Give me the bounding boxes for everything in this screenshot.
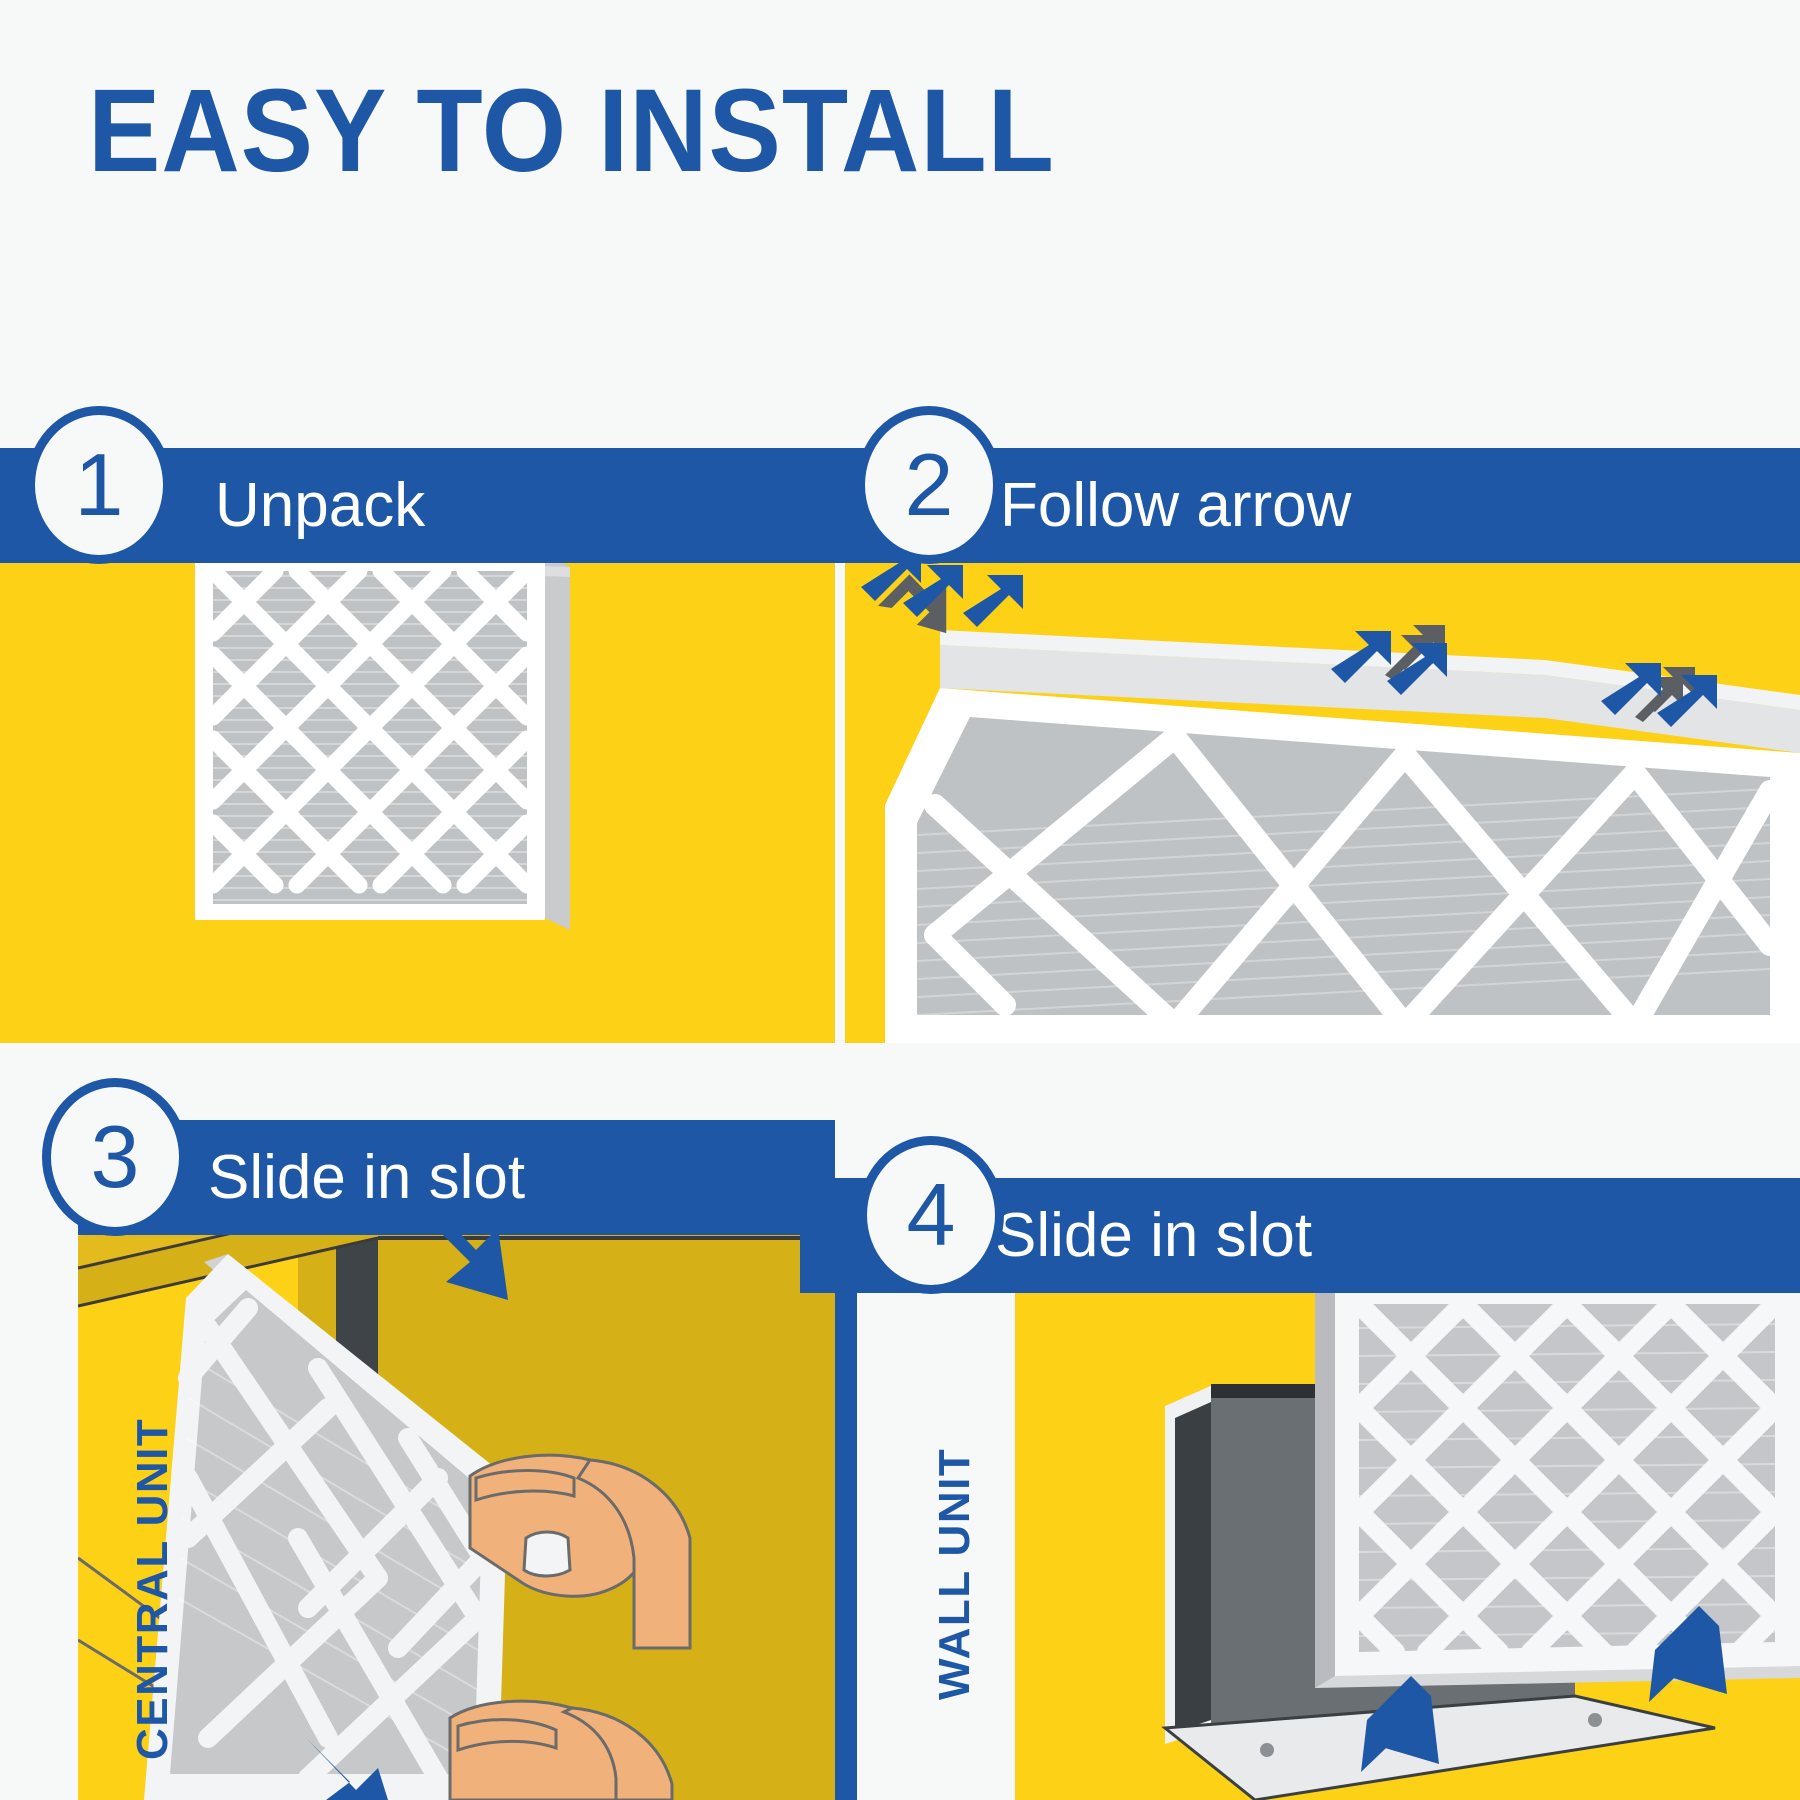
central-unit-label: CENTRAL UNIT: [128, 1418, 178, 1760]
step-1-label: Unpack: [215, 448, 425, 563]
step-2-number-badge: 2: [856, 406, 1002, 564]
page-title: EASY TO INSTALL: [88, 72, 1055, 190]
wall-unit-label: WALL UNIT: [930, 1448, 980, 1700]
wall-unit-insert-icon: [1015, 1258, 1800, 1800]
step-2-illustration-panel: [845, 505, 1800, 1043]
step-4-number-badge: 4: [858, 1136, 1004, 1294]
step-4-illustration-panel: [1015, 1258, 1800, 1800]
step-2-label: Follow arrow: [1000, 448, 1351, 563]
step-1-number-badge: 1: [26, 406, 172, 564]
step-4-label: Slide in slot: [995, 1178, 1312, 1293]
filter-front-view-icon: [0, 505, 835, 1043]
infographic-stage: EASY TO INSTALL: [0, 0, 1800, 1800]
step-3-label: Slide in slot: [208, 1120, 525, 1235]
step-1-illustration-panel: [0, 505, 835, 1043]
hands-inserting-filter-icon: [78, 1178, 835, 1800]
step-3-illustration-panel: [78, 1178, 835, 1800]
filter-angled-airflow-icon: [845, 505, 1800, 1043]
step-3-number-badge: 3: [42, 1078, 188, 1236]
